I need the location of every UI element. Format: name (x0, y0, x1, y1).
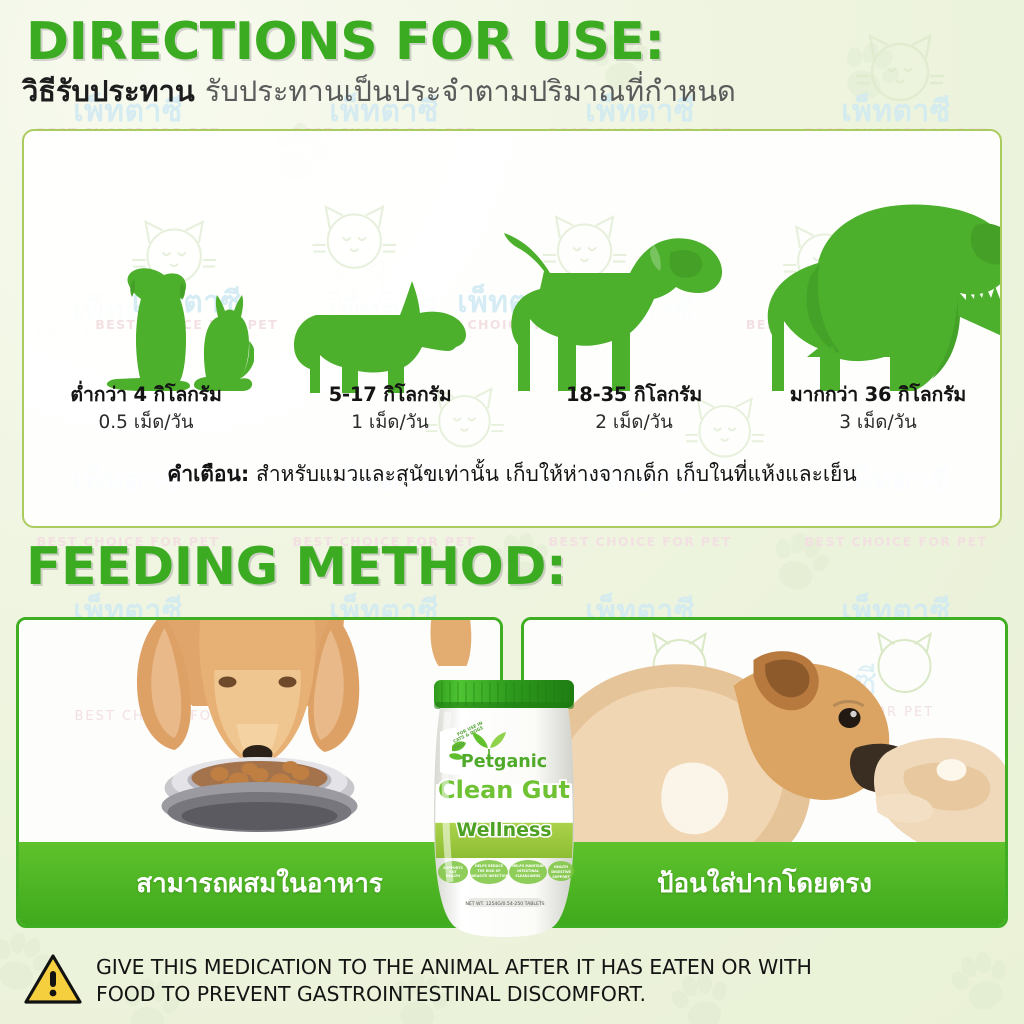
bottom-warning-text: GIVE THIS MEDICATION TO THE ANIMAL AFTER… (96, 950, 812, 1008)
large-dog-retriever-silhouette (762, 195, 1002, 395)
dosage-item: มากกว่า 36 กิโลกรัม 3 เม็ด/วัน (756, 383, 1000, 435)
dog-and-cat-sitting-silhouette (94, 265, 254, 395)
svg-text:CLEANLINESS: CLEANLINESS (515, 874, 541, 878)
dosage-amount: 2 เม็ด/วัน (512, 411, 756, 434)
dosage-weight: ต่ำกว่า 4 กิโลกรัม (24, 383, 268, 407)
dosage-amount: 3 เม็ด/วัน (756, 411, 1000, 434)
infographic-page: เพ็ทตาซี เพ็ทตาซี เพ็ทตาซี เพ็ทตาซี BEST… (0, 0, 1024, 1024)
dosage-weight: มากกว่า 36 กิโลกรัม (756, 383, 1000, 407)
bottom-warning: GIVE THIS MEDICATION TO THE ANIMAL AFTER… (24, 950, 1004, 1018)
directions-heading-en: DIRECTIONS FOR USE: (26, 16, 665, 68)
dosage-row: ต่ำกว่า 4 กิโลกรัม 0.5 เม็ด/วัน 5-17 กิโ… (24, 383, 1000, 435)
feeding-caption: ป้อนใส่ปากโดยตรง (657, 871, 872, 897)
svg-text:HEALTH: HEALTH (554, 865, 568, 869)
directions-heading-th-lead: วิธีรับประทาน (22, 74, 195, 108)
photo-puppy-hand-fed: เพ็ทตาซี BEST CHOICE FOR PET (524, 620, 1005, 842)
dosage-amount: 1 เม็ด/วัน (268, 411, 512, 434)
svg-text:THE RISK OF: THE RISK OF (477, 869, 500, 873)
svg-text:INTESTINAL: INTESTINAL (517, 869, 540, 873)
svg-text:Petganic: Petganic (461, 752, 547, 772)
directions-box: เพ็ทตาซี เพ็ทตาซี เพ็ทตาซี BEST CHOICE F… (22, 129, 1002, 528)
dosage-item: ต่ำกว่า 4 กิโลกรัม 0.5 เม็ด/วัน (24, 383, 268, 435)
caution-line: คำเตือน: สำหรับแมวและสุนัขเท่านั้น เก็บใ… (24, 461, 1000, 488)
medium-dog-silhouette (502, 209, 734, 395)
feeding-caption: สามารถผสมในอาหาร (136, 871, 383, 897)
svg-text:HELPS MAINTAIN: HELPS MAINTAIN (512, 864, 544, 868)
feeding-panel-direct-oral: เพ็ทตาซี BEST CHOICE FOR PET (521, 617, 1008, 928)
small-dog-corgi-silhouette (282, 253, 474, 395)
dosage-amount: 0.5 เม็ด/วัน (24, 411, 268, 434)
svg-text:Wellness: Wellness (456, 819, 551, 841)
svg-text:SUPPORT: SUPPORT (552, 875, 570, 879)
dosage-item: 18-35 กิโลกรัม 2 เม็ด/วัน (512, 383, 756, 435)
svg-text:DIGESTIVE: DIGESTIVE (551, 870, 571, 874)
svg-text:Clean Gut: Clean Gut (438, 776, 570, 804)
directions-heading-th-rest: รับประทานเป็นประจำตามปริมาณที่กำหนด (205, 74, 736, 108)
directions-heading-th: วิธีรับประทาน รับประทานเป็นประจำตามปริมา… (22, 76, 736, 108)
dosage-item: 5-17 กิโลกรัม 1 เม็ด/วัน (268, 383, 512, 435)
product-bottle: FOR USE IN CATS & DOGS ONLY Petganic Cle… (418, 672, 590, 937)
feeding-caption-bar: ป้อนใส่ปากโดยตรง (524, 842, 1005, 925)
svg-text:NET WT. 1254G/0.54-250 TABLETS: NET WT. 1254G/0.54-250 TABLETS (465, 901, 544, 907)
dosage-weight: 18-35 กิโลกรัม (512, 383, 756, 407)
warning-triangle-icon (24, 953, 82, 1009)
dosage-weight: 5-17 กิโลกรัม (268, 383, 512, 407)
caution-label: คำเตือน: (167, 462, 249, 486)
caution-text: สำหรับแมวและสุนัขเท่านั้น เก็บให้ห่างจาก… (256, 462, 857, 486)
feeding-heading-en: FEEDING METHOD: (26, 541, 566, 593)
svg-text:HELPS REDUCE: HELPS REDUCE (475, 864, 504, 868)
svg-text:PARASITE INFECTION: PARASITE INFECTION (470, 874, 509, 878)
pet-size-silhouettes (24, 139, 1000, 399)
